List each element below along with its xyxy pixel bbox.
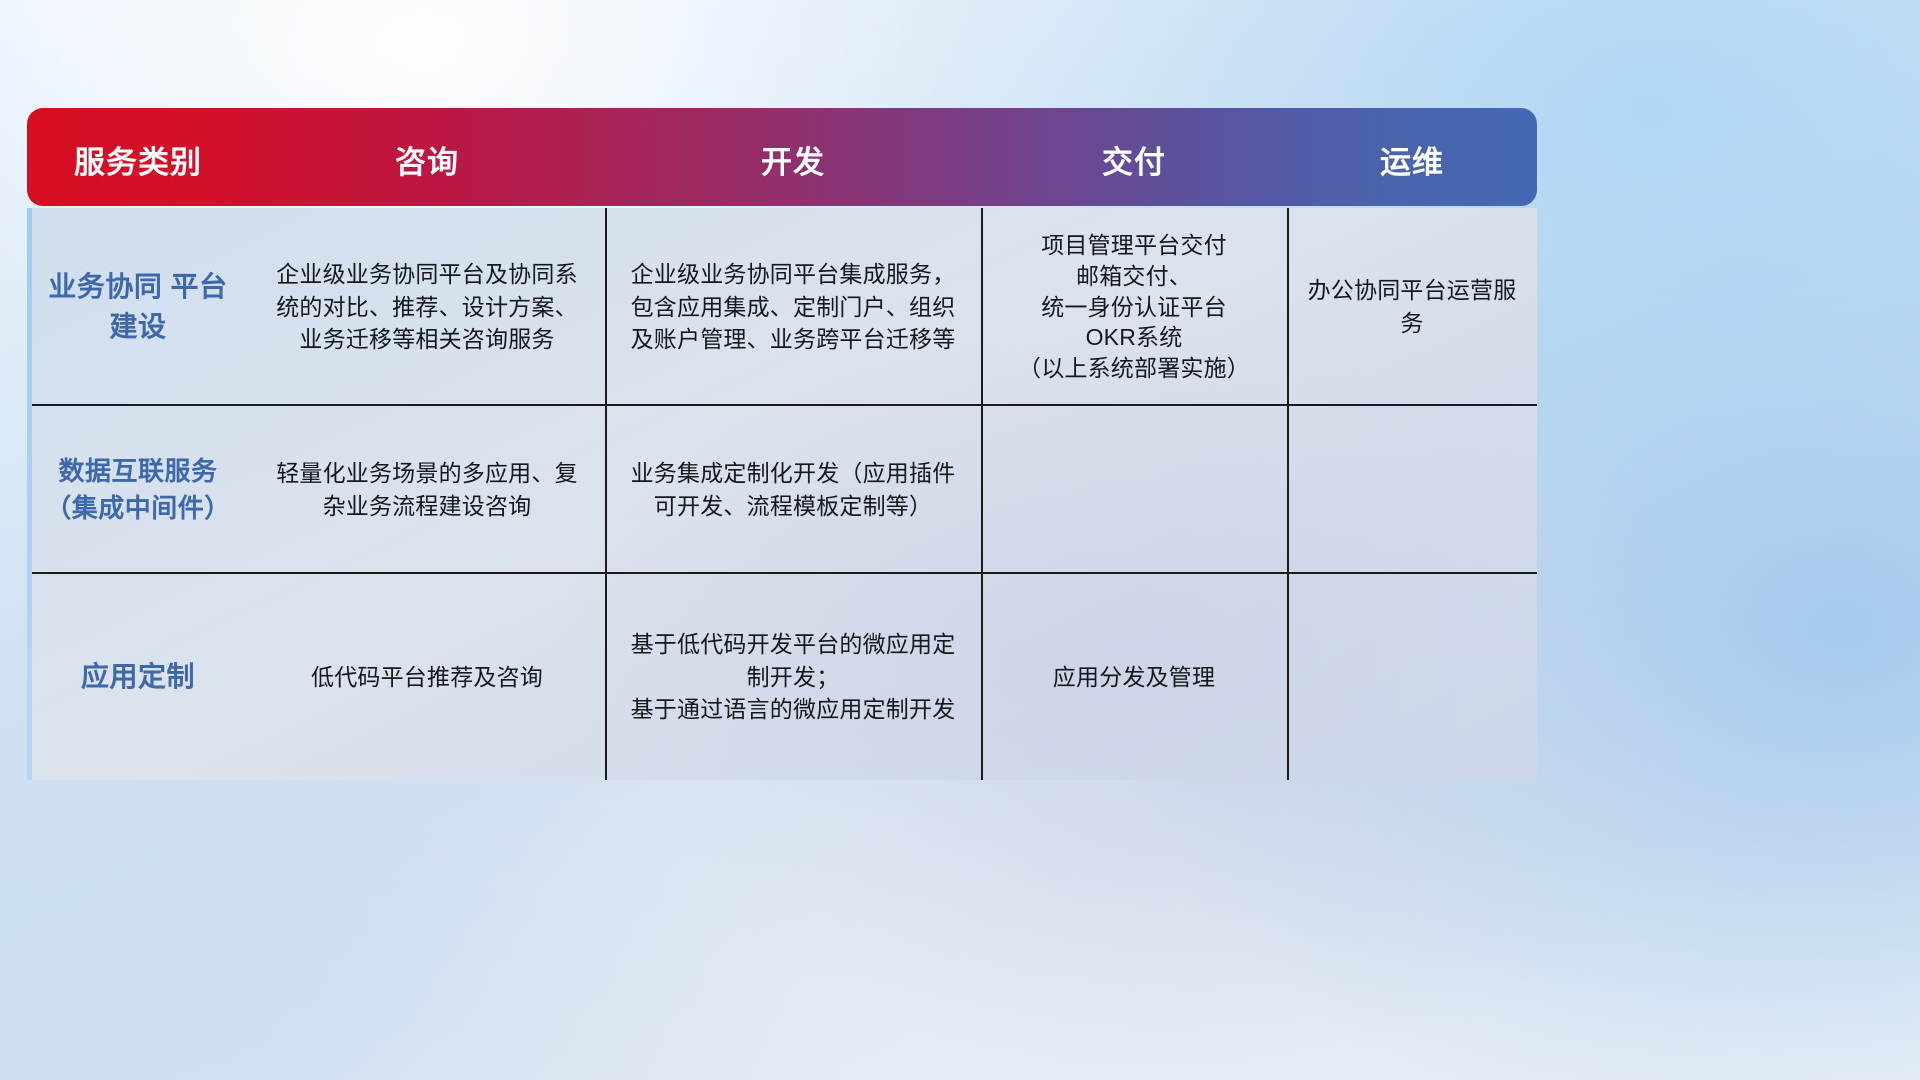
table-row: 业务协同 平台建设 企业级业务协同平台及协同系 统的对比、推荐、设计方案、 业务… xyxy=(27,208,1537,406)
cell-operations-row2 xyxy=(1287,406,1537,574)
column-header-development: 开发 xyxy=(605,133,981,182)
cell-category-row3: 应用定制 xyxy=(27,574,249,780)
cell-text: 轻量化业务场景的多应用、复 杂业务流程建设咨询 xyxy=(276,457,578,522)
column-header-operations: 运维 xyxy=(1287,133,1537,182)
cell-text: 办公协同平台运营服务 xyxy=(1299,274,1525,339)
cell-operations-row3 xyxy=(1287,574,1537,780)
category-label: 应用定制 xyxy=(81,657,195,697)
cell-delivery-row1: 项目管理平台交付 邮箱交付、 统一身份认证平台 OKR系统 （以上系统部署实施） xyxy=(981,208,1287,406)
cell-text: 应用分发及管理 xyxy=(1053,661,1215,694)
table-body: 业务协同 平台建设 企业级业务协同平台及协同系 统的对比、推荐、设计方案、 业务… xyxy=(27,208,1537,780)
cell-operations-row1: 办公协同平台运营服务 xyxy=(1287,208,1537,406)
cell-delivery-row2 xyxy=(981,406,1287,574)
cell-development-row3: 基于低代码开发平台的微应用定 制开发； 基于通过语言的微应用定制开发 xyxy=(605,574,981,780)
cell-development-row2: 业务集成定制化开发（应用插件 可开发、流程模板定制等） xyxy=(605,406,981,574)
cell-category-row2: 数据互联服务 （集成中间件） xyxy=(27,406,249,574)
category-label: 数据互联服务 （集成中间件） xyxy=(39,453,237,527)
cell-text: 基于低代码开发平台的微应用定 制开发； 基于通过语言的微应用定制开发 xyxy=(631,628,956,726)
table-header-row: 服务类别 咨询 开发 交付 运维 xyxy=(27,108,1537,206)
cell-text: 项目管理平台交付 邮箱交付、 统一身份认证平台 OKR系统 （以上系统部署实施） xyxy=(1018,230,1250,384)
category-label: 业务协同 平台建设 xyxy=(39,267,237,347)
table-row: 应用定制 低代码平台推荐及咨询 基于低代码开发平台的微应用定 制开发； 基于通过… xyxy=(27,574,1537,780)
cell-consulting-row1: 企业级业务协同平台及协同系 统的对比、推荐、设计方案、 业务迁移等相关咨询服务 xyxy=(249,208,605,406)
cell-development-row1: 企业级业务协同平台集成服务， 包含应用集成、定制门户、组织 及账户管理、业务跨平… xyxy=(605,208,981,406)
service-matrix-table: 服务类别 咨询 开发 交付 运维 业务协同 平台建设 企业级业务协同平台及协同系… xyxy=(27,108,1537,783)
column-header-category: 服务类别 xyxy=(27,133,249,182)
cell-text: 业务集成定制化开发（应用插件 可开发、流程模板定制等） xyxy=(631,457,956,522)
cell-consulting-row3: 低代码平台推荐及咨询 xyxy=(249,574,605,780)
column-header-consulting: 咨询 xyxy=(249,133,605,182)
column-header-delivery: 交付 xyxy=(981,133,1287,182)
cell-delivery-row3: 应用分发及管理 xyxy=(981,574,1287,780)
cell-consulting-row2: 轻量化业务场景的多应用、复 杂业务流程建设咨询 xyxy=(249,406,605,574)
cell-text: 企业级业务协同平台及协同系 统的对比、推荐、设计方案、 业务迁移等相关咨询服务 xyxy=(276,258,578,356)
table-row: 数据互联服务 （集成中间件） 轻量化业务场景的多应用、复 杂业务流程建设咨询 业… xyxy=(27,406,1537,574)
cell-text: 企业级业务协同平台集成服务， 包含应用集成、定制门户、组织 及账户管理、业务跨平… xyxy=(631,258,956,356)
cell-category-row1: 业务协同 平台建设 xyxy=(27,208,249,406)
cell-text: 低代码平台推荐及咨询 xyxy=(311,661,543,694)
